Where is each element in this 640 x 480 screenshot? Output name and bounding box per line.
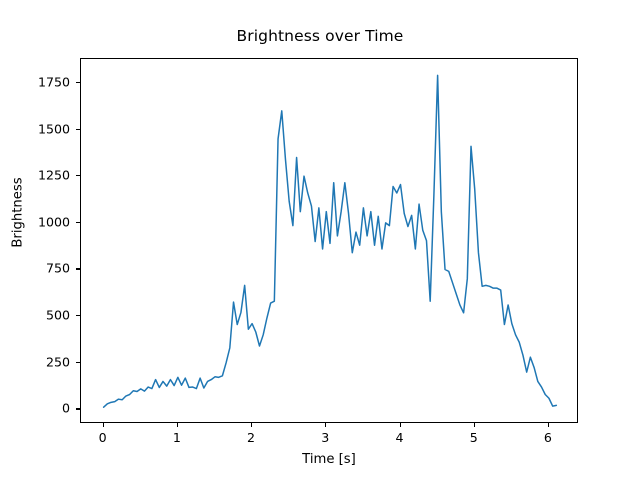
y-tick-label: 500 bbox=[10, 308, 70, 323]
figure-canvas: Brightness over Time 0250500750100012501… bbox=[0, 0, 640, 480]
y-tick-label: 0 bbox=[10, 401, 70, 416]
brightness-line-series bbox=[104, 75, 557, 407]
x-tick-mark bbox=[177, 423, 178, 427]
chart-title: Brightness over Time bbox=[0, 27, 640, 45]
x-tick-label: 3 bbox=[305, 430, 345, 445]
x-tick-label: 0 bbox=[83, 430, 123, 445]
x-tick-label: 1 bbox=[157, 430, 197, 445]
y-axis-label: Brightness bbox=[11, 153, 26, 273]
y-tick-mark bbox=[76, 175, 80, 176]
y-tick-label: 1500 bbox=[10, 121, 70, 136]
x-tick-label: 6 bbox=[528, 430, 568, 445]
y-tick-mark bbox=[76, 129, 80, 130]
x-tick-mark bbox=[325, 423, 326, 427]
y-tick-label: 250 bbox=[10, 354, 70, 369]
x-tick-label: 4 bbox=[380, 430, 420, 445]
y-tick-mark bbox=[76, 362, 80, 363]
x-tick-label: 5 bbox=[454, 430, 494, 445]
x-tick-mark bbox=[400, 423, 401, 427]
line-plot-svg bbox=[81, 59, 579, 424]
y-tick-mark bbox=[76, 408, 80, 409]
x-tick-mark bbox=[474, 423, 475, 427]
y-tick-mark bbox=[76, 268, 80, 269]
x-tick-mark bbox=[548, 423, 549, 427]
y-tick-label: 1750 bbox=[10, 74, 70, 89]
x-axis-label: Time [s] bbox=[80, 452, 578, 467]
y-tick-mark bbox=[76, 82, 80, 83]
y-tick-mark bbox=[76, 222, 80, 223]
x-tick-mark bbox=[103, 423, 104, 427]
x-tick-label: 2 bbox=[231, 430, 271, 445]
x-tick-mark bbox=[251, 423, 252, 427]
y-tick-mark bbox=[76, 315, 80, 316]
plot-axes bbox=[80, 58, 578, 423]
